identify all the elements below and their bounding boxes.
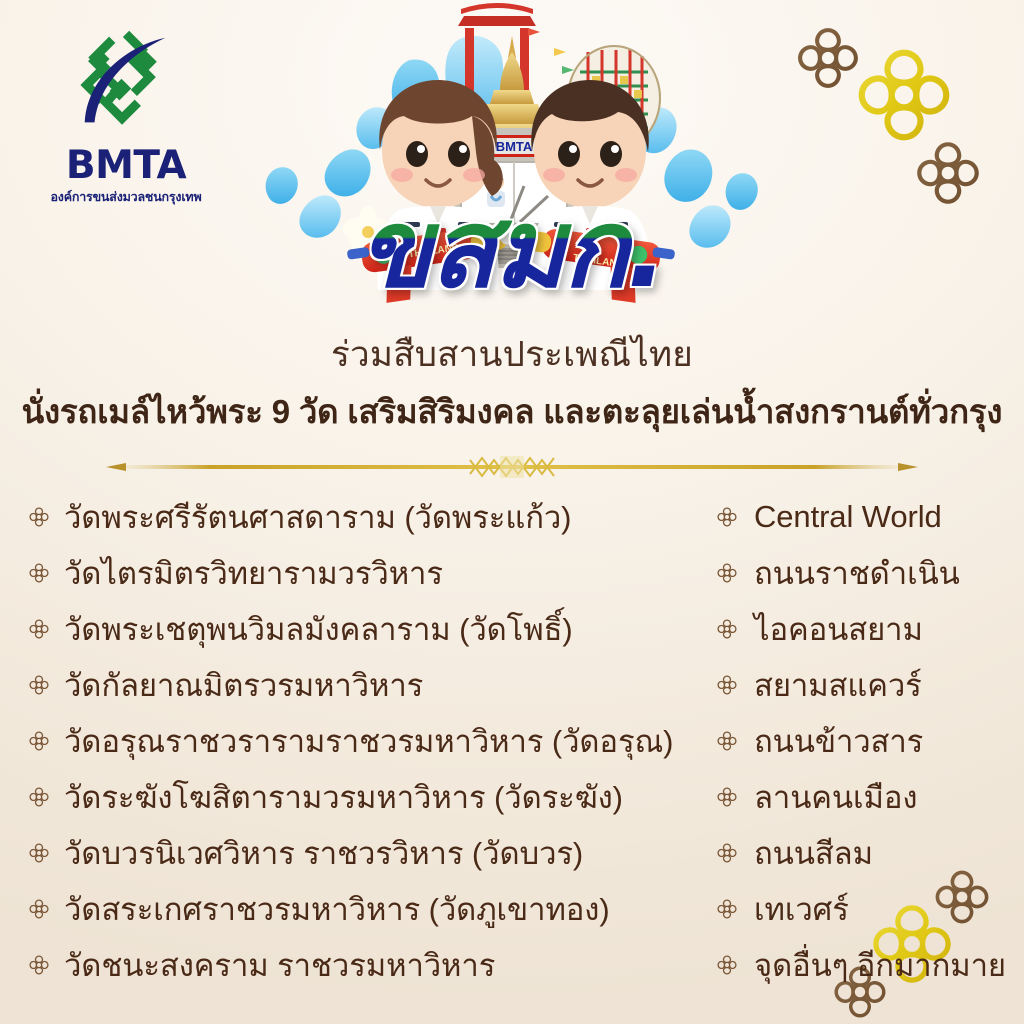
thai-flower-bullet-icon — [24, 952, 54, 978]
thai-flower-bullet-icon — [24, 504, 54, 530]
list-item[interactable]: Central World — [712, 489, 1024, 545]
list-item[interactable]: ไอคอนสยาม — [712, 601, 1024, 657]
thai-flower-bullet-icon — [24, 840, 54, 866]
svg-text:BMTA: BMTA — [496, 139, 533, 154]
thai-flower-bullet-icon — [712, 896, 742, 922]
list-item[interactable]: เทเวศร์ — [712, 881, 1024, 937]
gold-ornament-divider-icon — [104, 452, 920, 482]
thai-flower-bullet-icon — [24, 616, 54, 642]
list-item-label: วัดบวรนิเวศวิหาร ราชวรวิหาร (วัดบวร) — [64, 828, 583, 878]
list-item-label: วัดอรุณราชวรารามราชวรมหาวิหาร (วัดอรุณ) — [64, 716, 673, 766]
subtitle-line-2: นั่งรถเมล์ไหว้พระ 9 วัด เสริมสิริมงคล แล… — [0, 385, 1024, 438]
thai-flower-bullet-icon — [712, 840, 742, 866]
thai-flower-ornament-cluster-icon — [766, 8, 1016, 223]
thai-flower-bullet-icon — [712, 728, 742, 754]
destination-lists: วัดพระศรีรัตนศาสดาราม (วัดพระแก้ว) วัดไต… — [0, 489, 1024, 1009]
list-item-label: วัดระฆังโฆสิตารามวรมหาวิหาร (วัดระฆัง) — [64, 772, 623, 822]
thai-flower-bullet-icon — [24, 728, 54, 754]
list-item[interactable]: วัดพระเชตุพนวิมลมังคลาราม (วัดโพธิ์) — [24, 601, 700, 657]
list-item[interactable]: จุดอื่นๆ อีกมากมาย — [712, 937, 1024, 993]
temple-list-column: วัดพระศรีรัตนศาสดาราม (วัดพระแก้ว) วัดไต… — [0, 489, 700, 1009]
thai-flower-bullet-icon — [712, 784, 742, 810]
list-item-label: ลานคนเมือง — [754, 772, 917, 822]
thai-flower-bullet-icon — [24, 672, 54, 698]
list-item-label: ถนนข้าวสาร — [754, 716, 923, 766]
list-item-label: วัดชนะสงคราม ราชวรมหาวิหาร — [64, 940, 495, 990]
list-item[interactable]: วัดอรุณราชวรารามราชวรมหาวิหาร (วัดอรุณ) — [24, 713, 700, 769]
list-item-label: วัดไตรมิตรวิทยารามวรวิหาร — [64, 548, 443, 598]
page-title: ขสมก. — [0, 196, 1024, 304]
list-item[interactable]: สยามสแควร์ — [712, 657, 1024, 713]
list-item[interactable]: วัดกัลยาณมิตรวรมหาวิหาร — [24, 657, 700, 713]
list-item[interactable]: ลานคนเมือง — [712, 769, 1024, 825]
poster-canvas: BMTA องค์การขนส่งมวลชนกรุงเทพ — [0, 0, 1024, 1024]
list-item-label: ถนนราชดำเนิน — [754, 548, 960, 598]
list-item[interactable]: วัดชนะสงคราม ราชวรมหาวิหาร — [24, 937, 700, 993]
list-item[interactable]: วัดพระศรีรัตนศาสดาราม (วัดพระแก้ว) — [24, 489, 700, 545]
list-item-label: Central World — [754, 499, 942, 535]
list-item-label: เทเวศร์ — [754, 884, 849, 934]
bmta-logo-name: BMTA — [36, 146, 216, 185]
thai-flower-bullet-icon — [712, 504, 742, 530]
thai-flower-bullet-icon — [24, 560, 54, 586]
bmta-logo-mark-icon — [67, 26, 185, 144]
places-list-column: Central World ถนนราชดำเนิน ไอคอนสยาม สยา… — [700, 489, 1024, 1009]
list-item-label: ถนนสีลม — [754, 828, 873, 878]
list-item-label: วัดกัลยาณมิตรวรมหาวิหาร — [64, 660, 423, 710]
bmta-logo: BMTA องค์การขนส่งมวลชนกรุงเทพ — [36, 26, 216, 207]
list-item-label: ไอคอนสยาม — [754, 604, 923, 654]
list-item[interactable]: ถนนสีลม — [712, 825, 1024, 881]
list-item[interactable]: วัดบวรนิเวศวิหาร ราชวรวิหาร (วัดบวร) — [24, 825, 700, 881]
list-item-label: วัดสระเกศราชวรมหาวิหาร (วัดภูเขาทอง) — [64, 884, 610, 934]
thai-flower-bullet-icon — [712, 952, 742, 978]
thai-flower-bullet-icon — [712, 672, 742, 698]
list-item-label: วัดพระศรีรัตนศาสดาราม (วัดพระแก้ว) — [64, 492, 571, 542]
list-item[interactable]: วัดไตรมิตรวิทยารามวรวิหาร — [24, 545, 700, 601]
list-item-label: จุดอื่นๆ อีกมากมาย — [754, 940, 1006, 990]
thai-flower-bullet-icon — [24, 784, 54, 810]
list-item[interactable]: ถนนราชดำเนิน — [712, 545, 1024, 601]
list-item[interactable]: วัดสระเกศราชวรมหาวิหาร (วัดภูเขาทอง) — [24, 881, 700, 937]
thai-flower-bullet-icon — [24, 896, 54, 922]
list-item-label: วัดพระเชตุพนวิมลมังคลาราม (วัดโพธิ์) — [64, 604, 573, 654]
thai-flower-bullet-icon — [712, 560, 742, 586]
list-item[interactable]: ถนนข้าวสาร — [712, 713, 1024, 769]
thai-flower-bullet-icon — [712, 616, 742, 642]
list-item[interactable]: วัดระฆังโฆสิตารามวรมหาวิหาร (วัดระฆัง) — [24, 769, 700, 825]
list-item-label: สยามสแควร์ — [754, 660, 922, 710]
subtitle-line-1: ร่วมสืบสานประเพณีไทย — [0, 327, 1024, 382]
